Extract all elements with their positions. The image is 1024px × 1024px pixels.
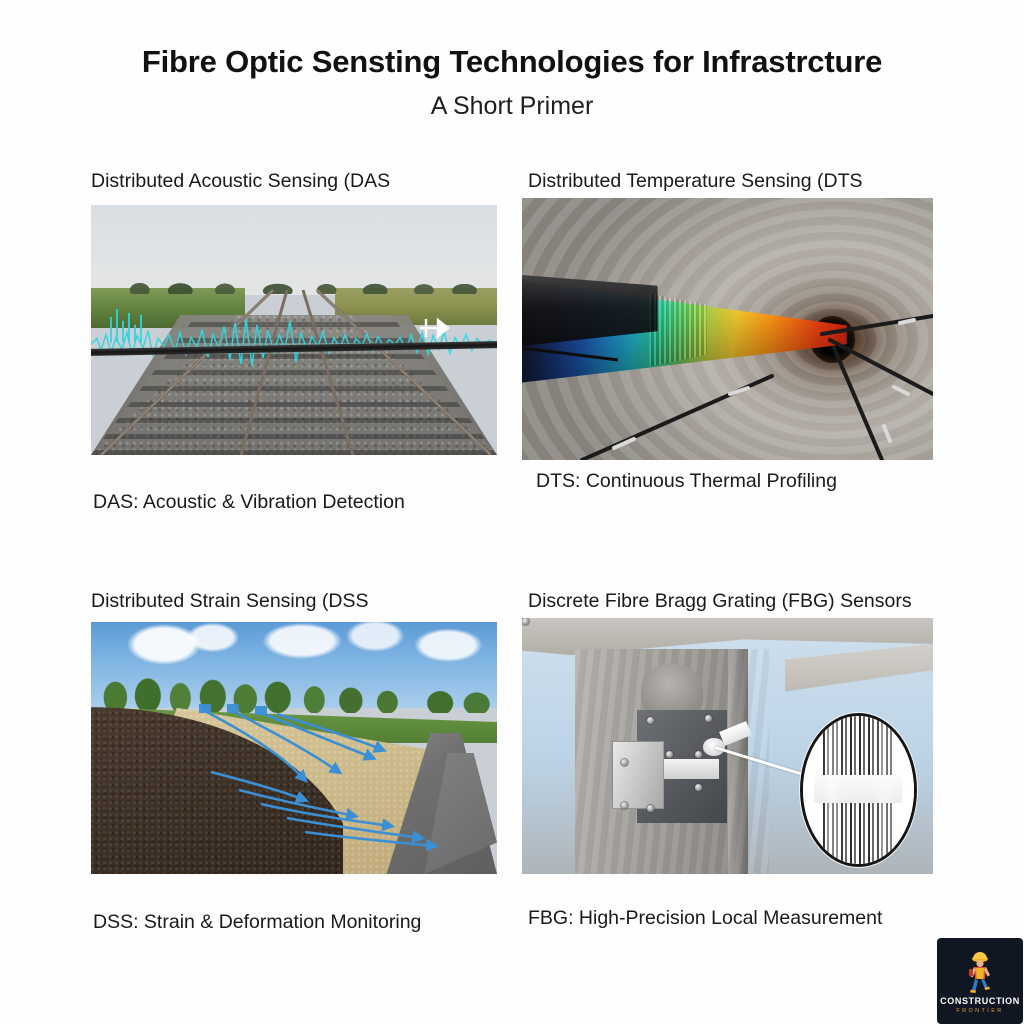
logo-tagline: FRONTIER [937,1008,1023,1014]
fbg-bolt [695,751,702,758]
panel-heading-dts: Distributed Temperature Sensing (DTS [528,170,863,193]
logo-name: CONSTRUCTION [937,996,1023,1006]
fbg-bolt [621,759,628,766]
panel-caption-das: DAS: Acoustic & Vibration Detection [93,491,405,514]
fbg-bolt [695,784,702,791]
fbg-bolt [666,751,673,758]
fbg-sensor-bracket [612,741,663,810]
infographic-page: Fibre Optic Sensting Technologies for In… [0,0,1024,1024]
das-sensor-marker-icon [418,315,452,341]
page-title: Fibre Optic Sensting Technologies for In… [0,44,1024,80]
fbg-bolt [647,717,654,724]
panel-heading-dss: Distributed Strain Sensing (DSS [91,590,368,613]
panel-caption-dss: DSS: Strain & Deformation Monitoring [93,911,421,934]
panel-heading-das: Distributed Acoustic Sensing (DAS [91,170,390,193]
page-subtitle: A Short Primer [0,92,1024,121]
dss-strain-arrows-overlay [91,622,497,874]
fbg-magnifier-inset [800,713,917,867]
panel-heading-fbg: Discrete Fibre Bragg Grating (FBG) Senso… [528,590,912,613]
figure-dts-tunnel-thermal [522,198,933,460]
fbg-bolt [621,802,628,809]
dts-support-struts [522,198,933,460]
panel-caption-dts: DTS: Continuous Thermal Profiling [536,470,837,493]
logo-badge: CONSTRUCTION FRONTIER [937,938,1023,1024]
fbg-bolt [522,618,529,625]
figure-dss-embankment-strain [91,622,497,874]
construction-worker-walking-icon [960,952,1000,994]
fbg-fibre-core [823,716,894,864]
fbg-pier-edge [728,649,749,874]
figure-das-railway-acoustic [91,205,497,455]
figure-fbg-pier-sensor [522,618,933,874]
panel-caption-fbg: FBG: High-Precision Local Measurement [528,907,882,930]
